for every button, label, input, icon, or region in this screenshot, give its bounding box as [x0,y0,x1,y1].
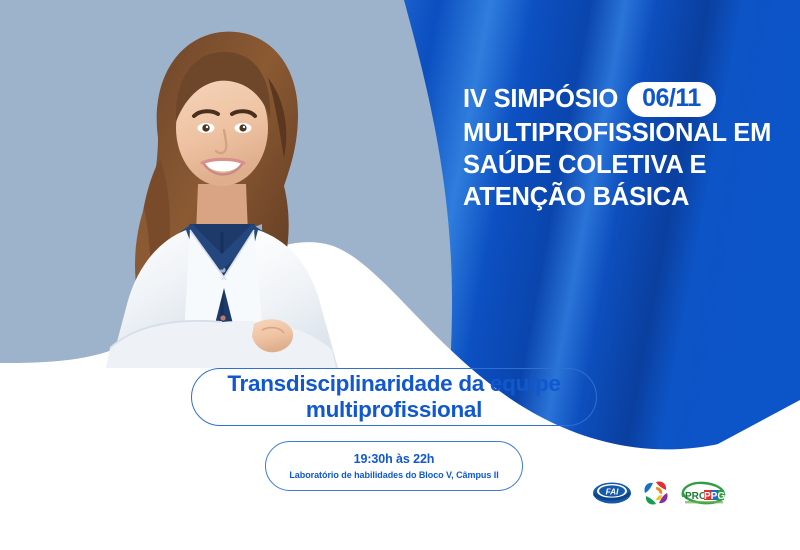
event-place: Laboratório de habilidades do Bloco V, C… [289,470,498,480]
svg-text:FAI: FAI [606,487,619,496]
proppg-logo-icon: PRO PPG [680,479,726,507]
doctor-photo [40,18,400,368]
event-title-block: IV SIMPÓSIO 06/11 MULTIPROFISSIONAL EM S… [463,82,788,214]
title-line-3: SAÚDE COLETIVA E [463,149,788,181]
info-box: 19:30h às 22h Laboratório de habilidades… [265,441,523,491]
title-line-4: ATENÇÃO BÁSICA [463,181,788,213]
subtitle-box: Transdisciplinaridade da equipe multipro… [191,368,597,426]
svg-text:PPG: PPG [704,491,725,502]
event-prefix: IV SIMPÓSIO [463,83,618,115]
poster-canvas: IV SIMPÓSIO 06/11 MULTIPROFISSIONAL EM S… [0,0,800,550]
date-badge: 06/11 [627,82,716,117]
pinwheel-logo-icon [641,478,671,508]
title-first-line: IV SIMPÓSIO 06/11 [463,82,788,117]
event-time: 19:30h às 22h [354,452,435,466]
fai-logo-icon: FAI [592,480,632,506]
title-line-2: MULTIPROFISSIONAL EM [463,117,788,149]
logo-row: FAI PRO PPG [592,476,722,510]
subtitle-text: Transdisciplinaridade da equipe multipro… [192,371,596,423]
